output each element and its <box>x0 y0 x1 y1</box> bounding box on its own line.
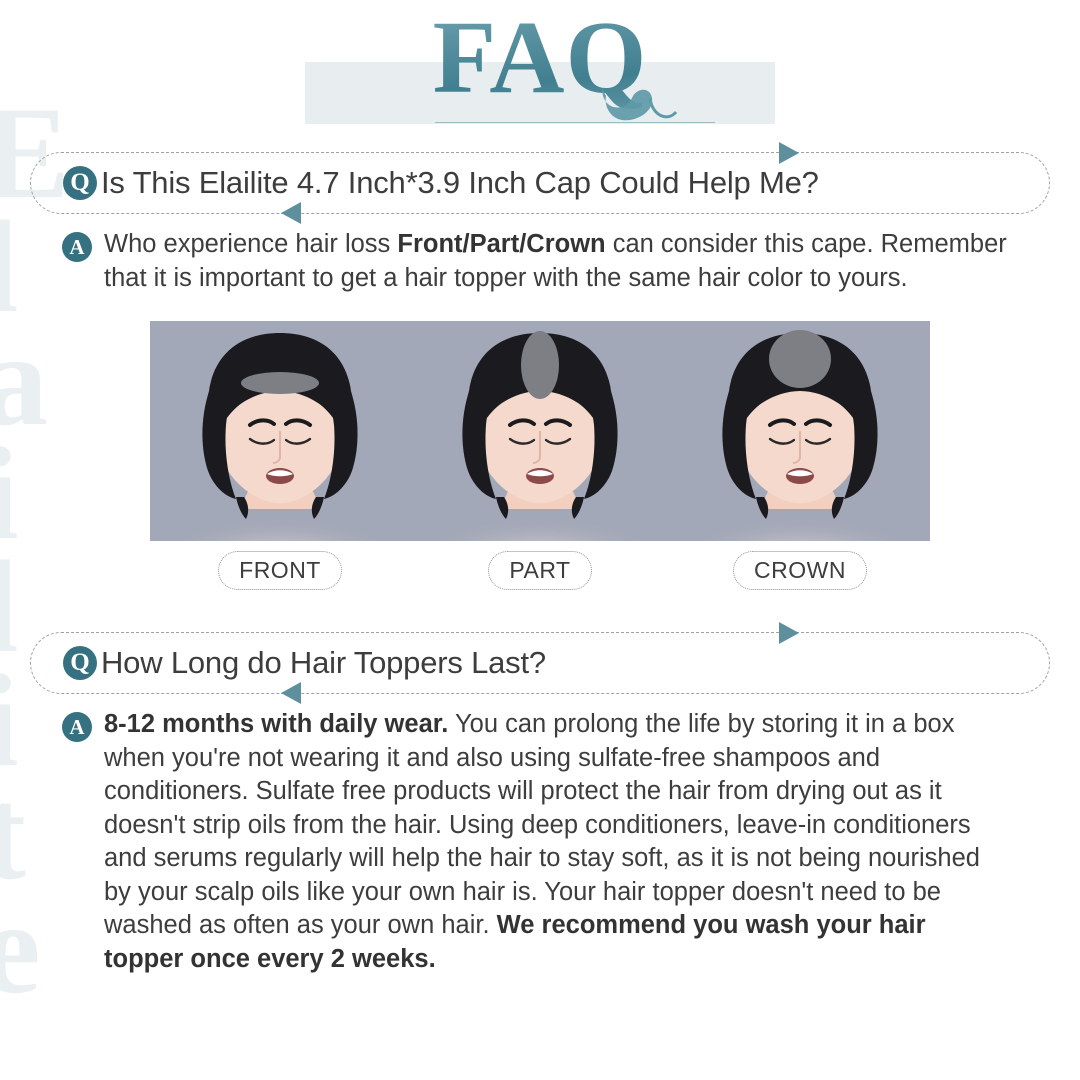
page-header: FAQ <box>0 0 1080 152</box>
question-text-2: How Long do Hair Toppers Last? <box>101 645 546 681</box>
label-front: FRONT <box>218 551 342 590</box>
answer-row-1: A Who experience hair loss Front/Part/Cr… <box>30 228 1050 295</box>
label-cell-crown: CROWN <box>670 551 930 590</box>
answer-badge-icon: A <box>62 232 92 262</box>
patch-part <box>521 331 559 399</box>
arrow-left-icon <box>281 682 301 704</box>
question-badge-icon: Q <box>63 646 97 680</box>
faq-item-1: Q Is This Elailite 4.7 Inch*3.9 Inch Cap… <box>0 152 1080 295</box>
answer-badge-icon: A <box>62 712 92 742</box>
label-cell-part: PART <box>410 551 670 590</box>
answer-text-1: Who experience hair loss Front/Part/Crow… <box>104 228 1009 295</box>
faq-swash-decoration <box>592 82 702 138</box>
arrow-right-icon <box>779 142 799 164</box>
label-crown: CROWN <box>733 551 867 590</box>
faq-item-2: Q How Long do Hair Toppers Last? A 8-12 … <box>0 632 1080 976</box>
question-row-2[interactable]: Q How Long do Hair Toppers Last? <box>30 632 1050 694</box>
question-badge-icon: Q <box>63 166 97 200</box>
answer-row-2: A 8-12 months with daily wear. You can p… <box>30 708 1050 976</box>
patch-crown <box>769 330 831 388</box>
patch-front <box>241 372 319 394</box>
illustration-labels: FRONT PART CROWN <box>150 551 930 590</box>
illustration-part <box>410 321 670 541</box>
question-row-1[interactable]: Q Is This Elailite 4.7 Inch*3.9 Inch Cap… <box>30 152 1050 214</box>
illustration-front <box>150 321 410 541</box>
arrow-left-icon <box>281 202 301 224</box>
label-cell-front: FRONT <box>150 551 410 590</box>
question-text-1: Is This Elailite 4.7 Inch*3.9 Inch Cap C… <box>101 165 819 201</box>
label-part: PART <box>488 551 591 590</box>
answer-text-2: 8-12 months with daily wear. You can pro… <box>104 708 1009 976</box>
illustration-crown <box>670 321 930 541</box>
arrow-right-icon <box>779 622 799 644</box>
hairloss-illustration-panel <box>150 321 930 541</box>
page-title: FAQ <box>0 6 1080 110</box>
section-spacer <box>0 590 1080 632</box>
